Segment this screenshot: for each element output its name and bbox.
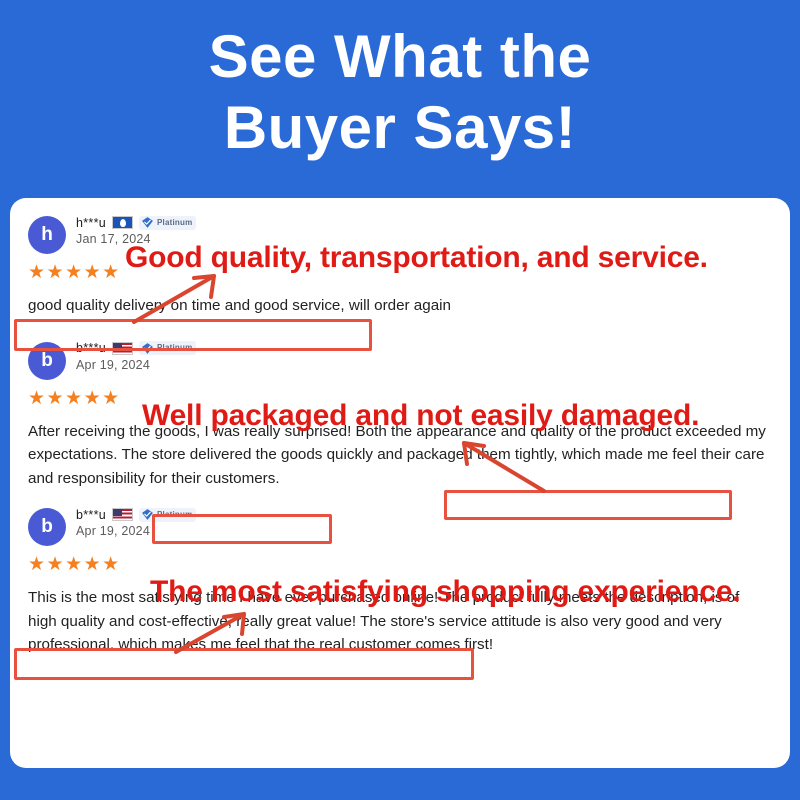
flag-us-icon bbox=[112, 342, 133, 355]
flag-us-icon bbox=[112, 508, 133, 521]
review-identity-row: b***u Platinum bbox=[76, 341, 196, 356]
review-meta: b***u Platinum Apr 19, 2024 bbox=[76, 506, 196, 538]
review-header: b b***u Platinum Apr 19, 2024 bbox=[28, 506, 772, 546]
review-header: b b***u Platinum Apr 19, 2024 bbox=[28, 340, 772, 380]
review-date: Apr 19, 2024 bbox=[76, 524, 196, 538]
review-text: good quality delivery on time and good s… bbox=[28, 294, 772, 318]
verified-diamond-icon bbox=[141, 216, 154, 229]
review-identity-row: b***u Platinum bbox=[76, 507, 196, 522]
avatar: h bbox=[28, 216, 66, 254]
review-identity-row: h***u Platinum bbox=[76, 215, 196, 230]
star-rating: ★★★★★ bbox=[28, 555, 772, 574]
flag-blue-icon bbox=[112, 216, 133, 229]
banner-header: See What the Buyer Says! bbox=[0, 0, 800, 164]
avatar: b bbox=[28, 508, 66, 546]
marker-headline: Good quality, transportation, and servic… bbox=[125, 243, 708, 273]
reviewer-name: h***u bbox=[76, 216, 106, 230]
page-title: See What the Buyer Says! bbox=[0, 22, 800, 164]
avatar: b bbox=[28, 342, 66, 380]
marker-headline: Well packaged and not easily damaged. bbox=[142, 401, 699, 431]
reviews-card: h h***u Platinum Jan 17, 2024 bbox=[10, 198, 790, 768]
reviewer-name: b***u bbox=[76, 508, 106, 522]
review-meta: b***u Platinum Apr 19, 2024 bbox=[76, 340, 196, 372]
status-badge: Platinum bbox=[139, 341, 196, 355]
reviews-list: h h***u Platinum Jan 17, 2024 bbox=[10, 198, 790, 768]
status-badge: Platinum bbox=[139, 216, 196, 230]
status-badge: Platinum bbox=[139, 508, 196, 522]
verified-diamond-icon bbox=[141, 508, 154, 521]
status-badge-label: Platinum bbox=[157, 344, 192, 352]
status-badge-label: Platinum bbox=[157, 219, 192, 227]
reviewer-name: b***u bbox=[76, 341, 106, 355]
verified-diamond-icon bbox=[141, 342, 154, 355]
review-date: Apr 19, 2024 bbox=[76, 358, 196, 372]
marker-headline: The most satisfying shopping experience. bbox=[150, 577, 740, 607]
status-badge-label: Platinum bbox=[157, 511, 192, 519]
